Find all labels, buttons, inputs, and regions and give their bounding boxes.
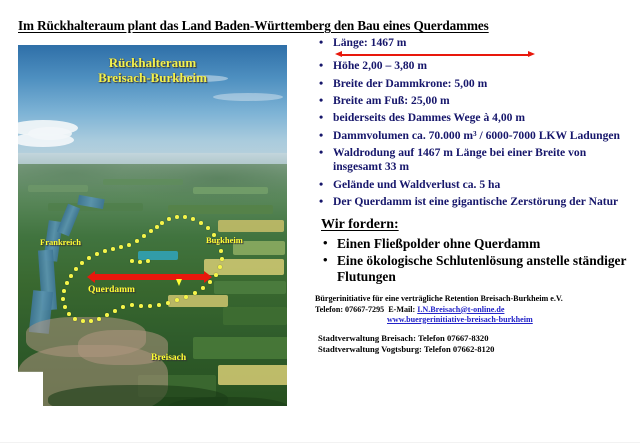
boundary-dot [146,259,150,263]
boundary-dot [73,317,77,321]
aerial-photo-canvas: Rückhalteraum Breisach-Burkheim Frankrei… [18,45,287,406]
boundary-dot [89,319,93,323]
facts-list: Länge: 1467 m Höhe 2,00 – 3,80 m Breite … [315,36,635,209]
boundary-dot [155,225,159,229]
aerial-photo: Rückhalteraum Breisach-Burkheim Frankrei… [18,45,287,406]
poster-page: Im Rückhalteraum plant das Land Baden-Wü… [0,0,640,443]
arrow-head-right-icon [528,51,535,57]
photo-label-querdamm: Querdamm [88,285,135,295]
fact-item-dammvolumen: Dammvolumen ca. 70.000 m³ / 6000-7000 LK… [315,129,635,143]
photo-overlay-title-line1: Rückhalteraum [109,55,196,70]
photo-overlay-title-line2: Breisach-Burkheim [98,70,207,85]
fact-item-laenge: Länge: 1467 m [315,36,635,50]
field-patch [28,185,88,192]
boundary-dot [111,247,115,251]
boundary-dot [142,234,146,238]
boundary-dot [219,249,223,253]
field-patch [218,365,287,385]
boundary-dot [62,289,66,293]
photo-label-breisach: Breisach [151,353,186,363]
contact-website-link[interactable]: www.buergerinitiative-breisach-burkheim [387,315,635,325]
boundary-dot [206,226,210,230]
boundary-dot [184,295,188,299]
fact-item-zerstoerung: Der Querdamm ist eine gigantische Zerstö… [315,195,635,209]
water-body [138,251,178,260]
boundary-dot [201,286,205,290]
contact-organisation: Bürgerinitiative für eine verträgliche R… [315,294,635,304]
boundary-dot [139,304,143,308]
fact-item-waldrodung: Waldrodung auf 1467 m Länge bei einer Br… [315,146,635,174]
fact-text: beiderseits des Dammes Wege à 4,00 m [333,111,525,124]
boundary-dot [87,256,91,260]
boundary-dot [67,312,71,316]
field-patch [193,337,287,359]
fact-text: Waldrodung auf 1467 m Länge bei einer Br… [333,146,586,173]
photo-overlay-title: Rückhalteraum Breisach-Burkheim [18,55,287,85]
contact-phone-row: Telefon: 07667-7295 E-Mail: I.N.Breisach… [315,305,635,315]
fact-item-hoehe: Höhe 2,00 – 3,80 m [315,59,635,73]
field-patch [168,205,273,214]
boundary-dot [220,257,224,261]
fact-text: Höhe 2,00 – 3,80 m [333,59,427,72]
cloud-shape [213,93,283,101]
boundary-dot [183,215,187,219]
photo-label-burkheim: Burkheim [206,235,243,245]
boundary-dot [61,297,65,301]
boundary-dot [160,221,164,225]
boundary-dot [148,304,152,308]
fact-text: Breite der Dammkrone: 5,00 m [333,77,487,90]
boundary-dot [69,274,73,278]
demand-item-schlutenloesung: Eine ökologische Schlutenlösung anstelle… [315,253,635,285]
fact-text: Dammvolumen ca. 70.000 m³ / 6000-7000 LK… [333,129,620,142]
demand-text: Eine ökologische Schlutenlösung anstelle… [337,253,626,284]
page-title: Im Rückhalteraum plant das Land Baden-Wü… [18,18,622,34]
administration-vogtsburg: Stadtverwaltung Vogtsburg: Telefon 07662… [318,344,635,355]
content-column: Länge: 1467 m Höhe 2,00 – 3,80 m Breite … [315,36,635,355]
boundary-dot [130,259,134,263]
administration-block: Stadtverwaltung Breisach: Telefon 07667-… [318,333,635,355]
boundary-dot [121,305,125,309]
field-patch [223,307,287,325]
boundary-dot [175,215,179,219]
boundary-dot [191,217,195,221]
photo-label-frankreich: Frankreich [40,237,81,247]
boundary-dot [97,317,101,321]
contact-email-link[interactable]: I.N.Breisach@t-online.de [417,305,504,314]
demand-item-fliesspolder: Einen Fließpolder ohne Querdamm [315,236,635,252]
contact-email-label: E-Mail: [388,305,415,314]
administration-breisach: Stadtverwaltung Breisach: Telefon 07667-… [318,333,635,344]
querdamm-marker [94,274,205,280]
boundary-dot [135,239,139,243]
demands-list: Einen Fließpolder ohne Querdamm Eine öko… [315,236,635,285]
fact-item-breite-fuss: Breite am Fuß: 25,00 m [315,94,635,108]
demand-text: Einen Fließpolder ohne Querdamm [337,236,540,251]
field-patch [218,220,284,232]
boundary-dot [218,265,222,269]
boundary-dot [105,313,109,317]
field-patch [193,187,268,194]
field-patch [103,179,183,185]
fact-text: Der Querdamm ist eine gigantische Zerstö… [333,195,618,208]
boundary-dot [103,249,107,253]
boundary-dot [127,243,131,247]
contact-block: Bürgerinitiative für eine verträgliche R… [315,294,635,325]
fact-item-dammkrone: Breite der Dammkrone: 5,00 m [315,77,635,91]
boundary-dot [130,303,134,307]
boundary-dot [157,303,161,307]
demands-heading: Wir fordern: [321,217,635,233]
boundary-dot [113,309,117,313]
fact-text: Gelände und Waldverlust ca. 5 ha [333,178,500,191]
boundary-dot [167,217,171,221]
boundary-dot [214,273,218,277]
boundary-dot [199,221,203,225]
fact-text: Länge: 1467 m [333,36,406,49]
dam-pointer-icon [176,279,182,286]
fact-item-waldverlust: Gelände und Waldverlust ca. 5 ha [315,178,635,192]
contact-phone: Telefon: 07667-7295 [315,305,384,314]
boundary-dot [74,267,78,271]
boundary-dot [81,319,85,323]
boundary-dot [65,281,69,285]
boundary-dot [63,305,67,309]
boundary-dot [80,261,84,265]
boundary-dot [149,229,153,233]
arrow-shaft [340,54,530,56]
boundary-dot [95,252,99,256]
fact-text: Breite am Fuß: 25,00 m [333,94,450,107]
boundary-dot [119,245,123,249]
field-patch [214,281,286,294]
boundary-dot [138,260,142,264]
boundary-dot [166,301,170,305]
fact-item-wege: beiderseits des Dammes Wege à 4,00 m [315,111,635,125]
boundary-dot [193,291,197,295]
boundary-dot [175,298,179,302]
